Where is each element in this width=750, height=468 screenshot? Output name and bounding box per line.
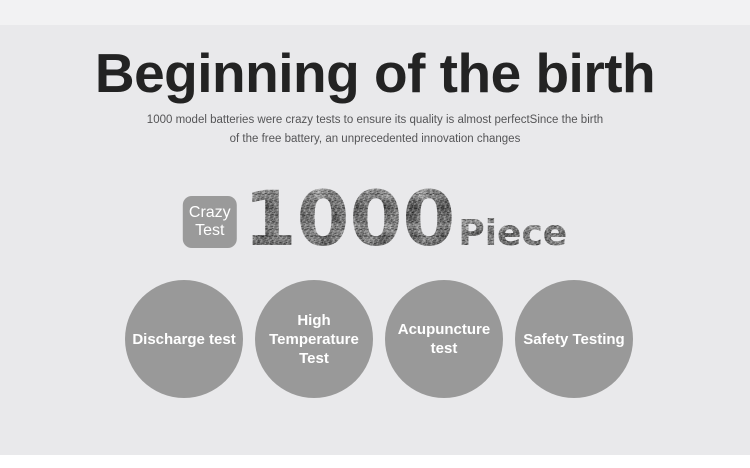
quantity-unit: Piece: [458, 217, 567, 251]
test-circle-label: High Temperature Test: [259, 311, 369, 368]
bottom-background-band: [0, 455, 750, 468]
crazy-test-badge-line-2: Test: [195, 222, 224, 240]
crazy-test-badge: Crazy Test: [183, 196, 237, 248]
test-circle-label: Acupuncture test: [389, 320, 499, 358]
promo-banner: Beginning of the birth 1000 model batter…: [0, 0, 750, 468]
stone-banner-inner: Crazy Test 1000 Piece: [183, 183, 567, 255]
page-title: Beginning of the birth: [0, 42, 750, 104]
circle-shape: Safety Testing: [515, 280, 633, 398]
test-circle-discharge: Discharge test: [125, 280, 243, 398]
subtitle-block: 1000 model batteries were crazy tests to…: [125, 111, 625, 149]
circle-shape: High Temperature Test: [255, 280, 373, 398]
test-circle-safety: Safety Testing: [515, 280, 633, 398]
crazy-test-badge-line-1: Crazy: [189, 204, 231, 222]
test-circle-label: Discharge test: [132, 330, 235, 349]
quantity-number: 1000: [244, 185, 456, 253]
circle-shape: Acupuncture test: [385, 280, 503, 398]
test-circles-row: Discharge test High Temperature Test Acu…: [0, 280, 750, 400]
subtitle-line-2: of the free battery, an unprecedented in…: [125, 130, 625, 149]
test-circle-high-temperature: High Temperature Test: [255, 280, 373, 398]
top-background-band: [0, 0, 750, 25]
test-circle-acupuncture: Acupuncture test: [385, 280, 503, 398]
circle-shape: Discharge test: [125, 280, 243, 398]
test-circle-label: Safety Testing: [523, 330, 624, 349]
stone-banner: Crazy Test 1000 Piece: [0, 183, 750, 255]
subtitle-line-1: 1000 model batteries were crazy tests to…: [125, 111, 625, 130]
